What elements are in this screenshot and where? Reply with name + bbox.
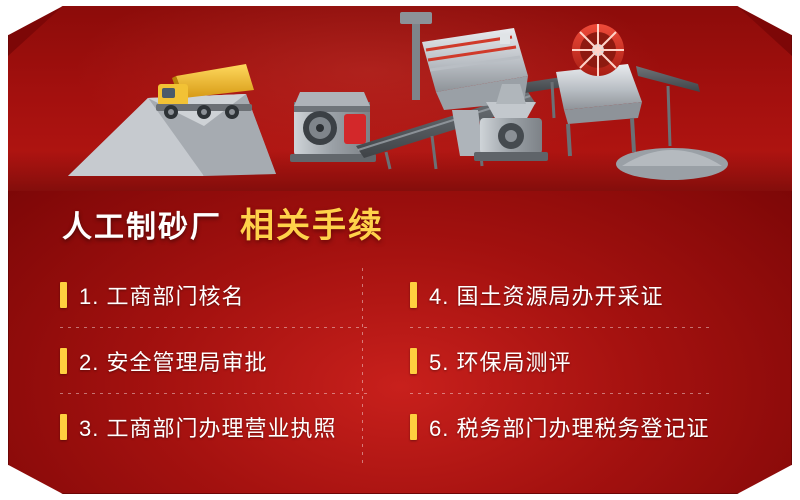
list-item-label: 6. 税务部门办理税务登记证 [429, 411, 709, 443]
list-item[interactable]: 1. 工商部门核名 [60, 262, 410, 328]
headline: 人工制砂厂 相关手续 [62, 198, 384, 247]
list-item[interactable]: 5. 环保局测评 [410, 328, 740, 394]
sand-pile-icon [616, 148, 728, 180]
list-item[interactable]: 3. 工商部门办理营业执照 [60, 394, 410, 460]
machines-svg [8, 6, 792, 191]
bullet-bar-icon [60, 414, 67, 440]
bullet-bar-icon [60, 282, 67, 308]
headline-highlight: 相关手续 [240, 198, 384, 247]
bullet-bar-icon [410, 348, 417, 374]
list-item[interactable]: 2. 安全管理局审批 [60, 328, 410, 394]
list-item-label: 1. 工商部门核名 [79, 279, 244, 311]
sand-washer-icon [556, 24, 700, 156]
procedure-list: 1. 工商部门核名 4. 国土资源局办开采证 2. 安全管理局审批 5. 环保局… [60, 262, 740, 460]
list-item-label: 2. 安全管理局审批 [79, 345, 267, 377]
bullet-bar-icon [410, 282, 417, 308]
list-item-label: 4. 国土资源局办开采证 [429, 279, 663, 311]
headline-main: 人工制砂厂 [62, 202, 222, 246]
list-item-label: 5. 环保局测评 [429, 345, 571, 377]
bullet-bar-icon [60, 348, 67, 374]
production-line-illustration [8, 6, 792, 191]
list-item[interactable]: 6. 税务部门办理税务登记证 [410, 394, 740, 460]
bullet-bar-icon [410, 414, 417, 440]
list-item-label: 3. 工商部门办理营业执照 [79, 411, 336, 443]
dump-truck-icon [156, 64, 254, 119]
poster-canvas: 人工制砂厂 相关手续 1. 工商部门核名 4. 国土资源局办开采证 2. 安全管… [0, 0, 800, 500]
list-item[interactable]: 4. 国土资源局办开采证 [410, 262, 740, 328]
